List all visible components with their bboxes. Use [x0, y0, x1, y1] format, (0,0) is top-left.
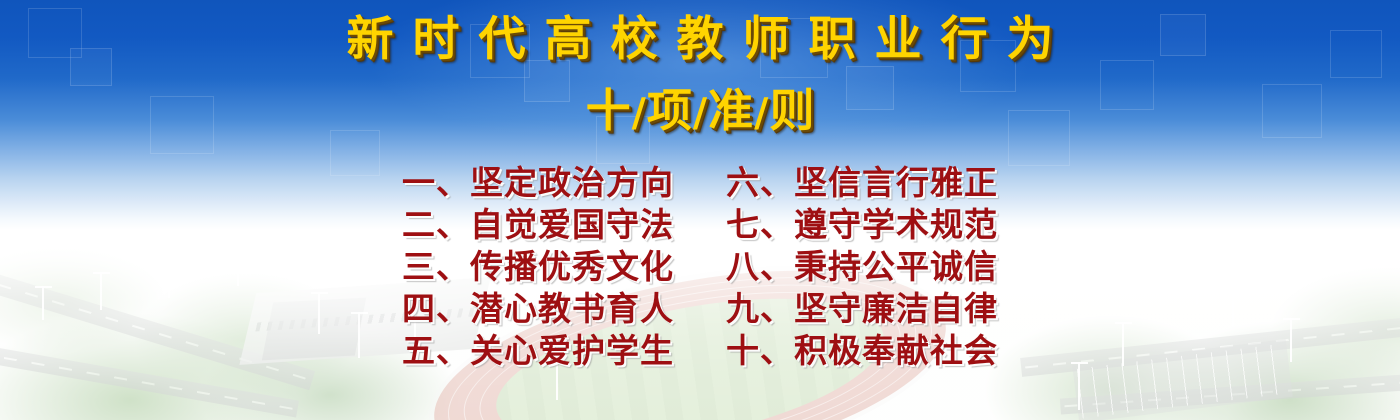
poster-content: 新时代高校教师职业行为 十/项/准/则 一、坚定政治方向 二、自觉爱国守法 三、…	[0, 0, 1400, 420]
subtitle-separator: /	[753, 90, 769, 136]
subtitle-separator: /	[692, 90, 708, 136]
list-item: 四、潜心教书育人	[402, 288, 674, 330]
list-item: 八、秉持公平诚信	[726, 246, 998, 288]
guidelines-left-column: 一、坚定政治方向 二、自觉爱国守法 三、传播优秀文化 四、潜心教书育人 五、关心…	[402, 162, 674, 372]
list-item: 三、传播优秀文化	[402, 246, 674, 288]
guidelines-right-column: 六、坚信言行雅正 七、遵守学术规范 八、秉持公平诚信 九、坚守廉洁自律 十、积极…	[726, 162, 998, 372]
list-item: 一、坚定政治方向	[402, 162, 674, 204]
page-subtitle: 十/项/准/则	[0, 84, 1400, 140]
list-item: 五、关心爱护学生	[402, 330, 674, 372]
subtitle-char-1: 十	[586, 84, 631, 137]
subtitle-char-4: 则	[769, 84, 814, 137]
list-item: 九、坚守廉洁自律	[726, 288, 998, 330]
banner-poster: 新时代高校教师职业行为 十/项/准/则 一、坚定政治方向 二、自觉爱国守法 三、…	[0, 0, 1400, 420]
subtitle-char-3: 准	[708, 84, 753, 137]
list-item: 七、遵守学术规范	[726, 204, 998, 246]
page-title: 新时代高校教师职业行为	[0, 12, 1400, 68]
subtitle-separator: /	[631, 90, 647, 136]
guidelines-list: 一、坚定政治方向 二、自觉爱国守法 三、传播优秀文化 四、潜心教书育人 五、关心…	[0, 162, 1400, 372]
list-item: 十、积极奉献社会	[726, 330, 998, 372]
list-item: 二、自觉爱国守法	[402, 204, 674, 246]
subtitle-char-2: 项	[647, 84, 692, 137]
list-item: 六、坚信言行雅正	[726, 162, 998, 204]
